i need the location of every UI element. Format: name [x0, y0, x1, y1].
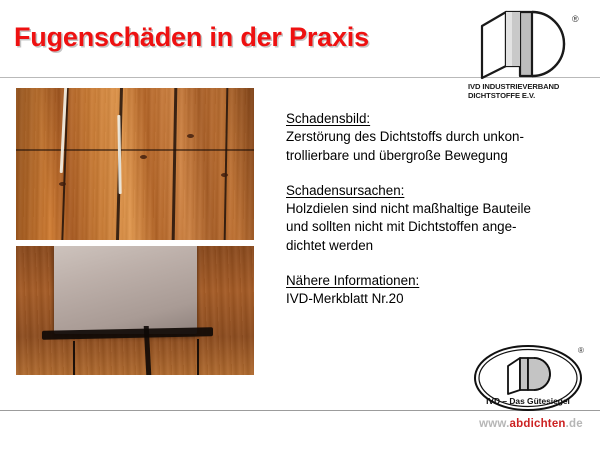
photo-bottom-column-base — [54, 246, 197, 334]
content-line: Holzdielen sind nicht maßhaltige Bauteil… — [286, 200, 586, 218]
content-line: IVD-Merkblatt Nr.20 — [286, 290, 586, 308]
header-logo-name: IVD INDUSTRIEVERBAND DICHTSTOFFE E.V. — [468, 82, 592, 100]
header-logo-name-line1: IVD INDUSTRIEVERBAND — [468, 82, 592, 91]
url-prefix: www. — [479, 418, 509, 430]
content-heading: Nähere Informationen: — [286, 272, 586, 290]
photo-top-seam — [16, 149, 254, 151]
url-main: abdichten — [510, 418, 566, 430]
content-line: trollierbare und übergroße Bewegung — [286, 147, 586, 165]
url-suffix: .de — [566, 418, 583, 430]
ivd-monogram-icon — [476, 8, 572, 80]
seal-text: IVD – Das Gütesiegel — [486, 396, 570, 406]
photo-top-surface — [16, 88, 254, 240]
website-url: www.abdichten.de — [468, 418, 594, 430]
footer-logo: IVD – Das Gütesiegel ® www.abdichten.de — [468, 344, 594, 444]
content-text: Schadensbild: Zerstörung des Dichtstoffs… — [286, 110, 586, 309]
photo-top-knot — [140, 155, 147, 159]
page-title: Fugenschäden in der Praxis — [14, 22, 369, 53]
content-line: Zerstörung des Dichtstoffs durch unkon- — [286, 128, 586, 146]
content-block-schadensursachen: Schadensursachen: Holzdielen sind nicht … — [286, 182, 586, 255]
header-logo-name-line2: DICHTSTOFFE E.V. — [468, 91, 592, 100]
photo-bottom-floor-gap — [73, 341, 75, 375]
content-block-schadensbild: Schadensbild: Zerstörung des Dichtstoffs… — [286, 110, 586, 165]
content-heading: Schadensursachen: — [286, 182, 586, 200]
content-line: und sollten nicht mit Dichtstoffen ange- — [286, 218, 586, 236]
photo-column-base-floor-joint — [16, 246, 254, 375]
ivd-seal-oval-icon: IVD – Das Gütesiegel — [472, 344, 584, 412]
photo-damaged-wooden-floor-joints — [16, 88, 254, 240]
slide-root: Fugenschäden in der Praxis ® IVD INDUSTR… — [0, 0, 600, 450]
content-line: dichtet werden — [286, 237, 586, 255]
registered-trademark-icon: ® — [572, 14, 579, 24]
content-block-naehere-informationen: Nähere Informationen: IVD-Merkblatt Nr.2… — [286, 272, 586, 309]
header-logo: ® IVD INDUSTRIEVERBAND DICHTSTOFFE E.V. — [468, 8, 592, 103]
photo-top-knot — [187, 134, 194, 138]
photo-top-knot — [221, 173, 228, 177]
registered-trademark-icon: ® — [578, 346, 584, 355]
content-heading: Schadensbild: — [286, 110, 586, 128]
photo-bottom-floor-gap — [197, 339, 199, 375]
